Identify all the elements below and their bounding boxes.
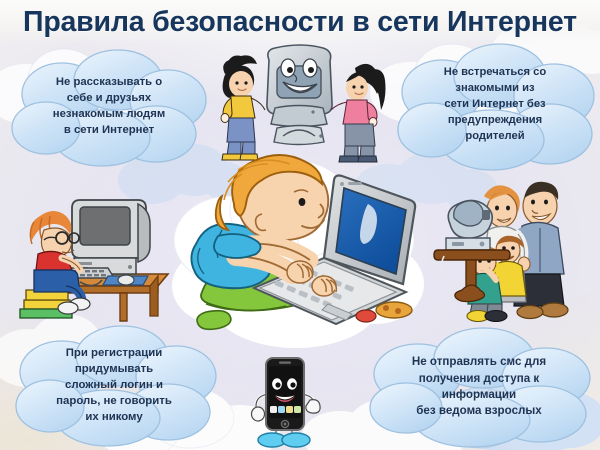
rule-line: придумывать — [75, 361, 153, 377]
rule-line: предупреждения — [448, 113, 542, 129]
rule-line: в сети Интернет — [64, 122, 154, 138]
family-at-computer-illustration — [436, 176, 594, 326]
rule-line: без ведома взрослых — [416, 403, 541, 419]
rule-line: Не рассказывать о — [56, 74, 162, 90]
rule-line: родителей — [465, 129, 524, 145]
rule-bubble-do-not-meet-strangers: Не встречаться со знакомыми из сети Инте… — [392, 38, 598, 172]
rule-bubble-text: Не встречаться со знакомыми из сети Инте… — [392, 38, 598, 172]
rule-bubble-strong-password: При регистрации придумывать сложный логи… — [8, 322, 220, 448]
rule-bubble-text: При регистрации придумывать сложный логи… — [8, 322, 220, 448]
boy-with-laptop-illustration — [176, 152, 420, 348]
rule-bubble-text: Не отправлять смс для получения доступа … — [360, 326, 598, 448]
rule-line: информации — [442, 387, 516, 403]
rule-bubble-do-not-share-personal-info: Не рассказывать о себе и друзьях незнако… — [6, 44, 212, 168]
rule-line: Не встречаться со — [444, 65, 546, 81]
rule-line: пароль, не говорить — [56, 393, 172, 409]
title-bar: Правила безопасности в сети Интернет — [0, 0, 600, 44]
smiling-smartphone-character-illustration — [246, 352, 324, 448]
rule-line: знакомыми из — [455, 81, 534, 97]
rule-line: незнакомым людям — [53, 106, 165, 122]
rule-line: сети Интернет без — [444, 97, 545, 113]
rule-line: Не отправлять смс для — [412, 354, 546, 370]
rule-line: При регистрации — [66, 345, 163, 361]
rule-line: себе и друзьях — [67, 90, 151, 106]
rule-line: их никому — [85, 409, 142, 425]
rule-line: получения доступа к — [419, 371, 539, 387]
rule-line: сложный логин и — [65, 377, 163, 393]
kids-with-smiling-computer-illustration — [205, 40, 395, 168]
boy-on-books-at-desktop-illustration — [8, 182, 176, 324]
poster-root: Правила безопасности в сети Интернет — [0, 0, 600, 450]
rule-bubble-do-not-send-sms: Не отправлять смс для получения доступа … — [360, 326, 598, 448]
rule-bubble-text: Не рассказывать о себе и друзьях незнако… — [6, 44, 212, 168]
page-title: Правила безопасности в сети Интернет — [23, 8, 577, 37]
